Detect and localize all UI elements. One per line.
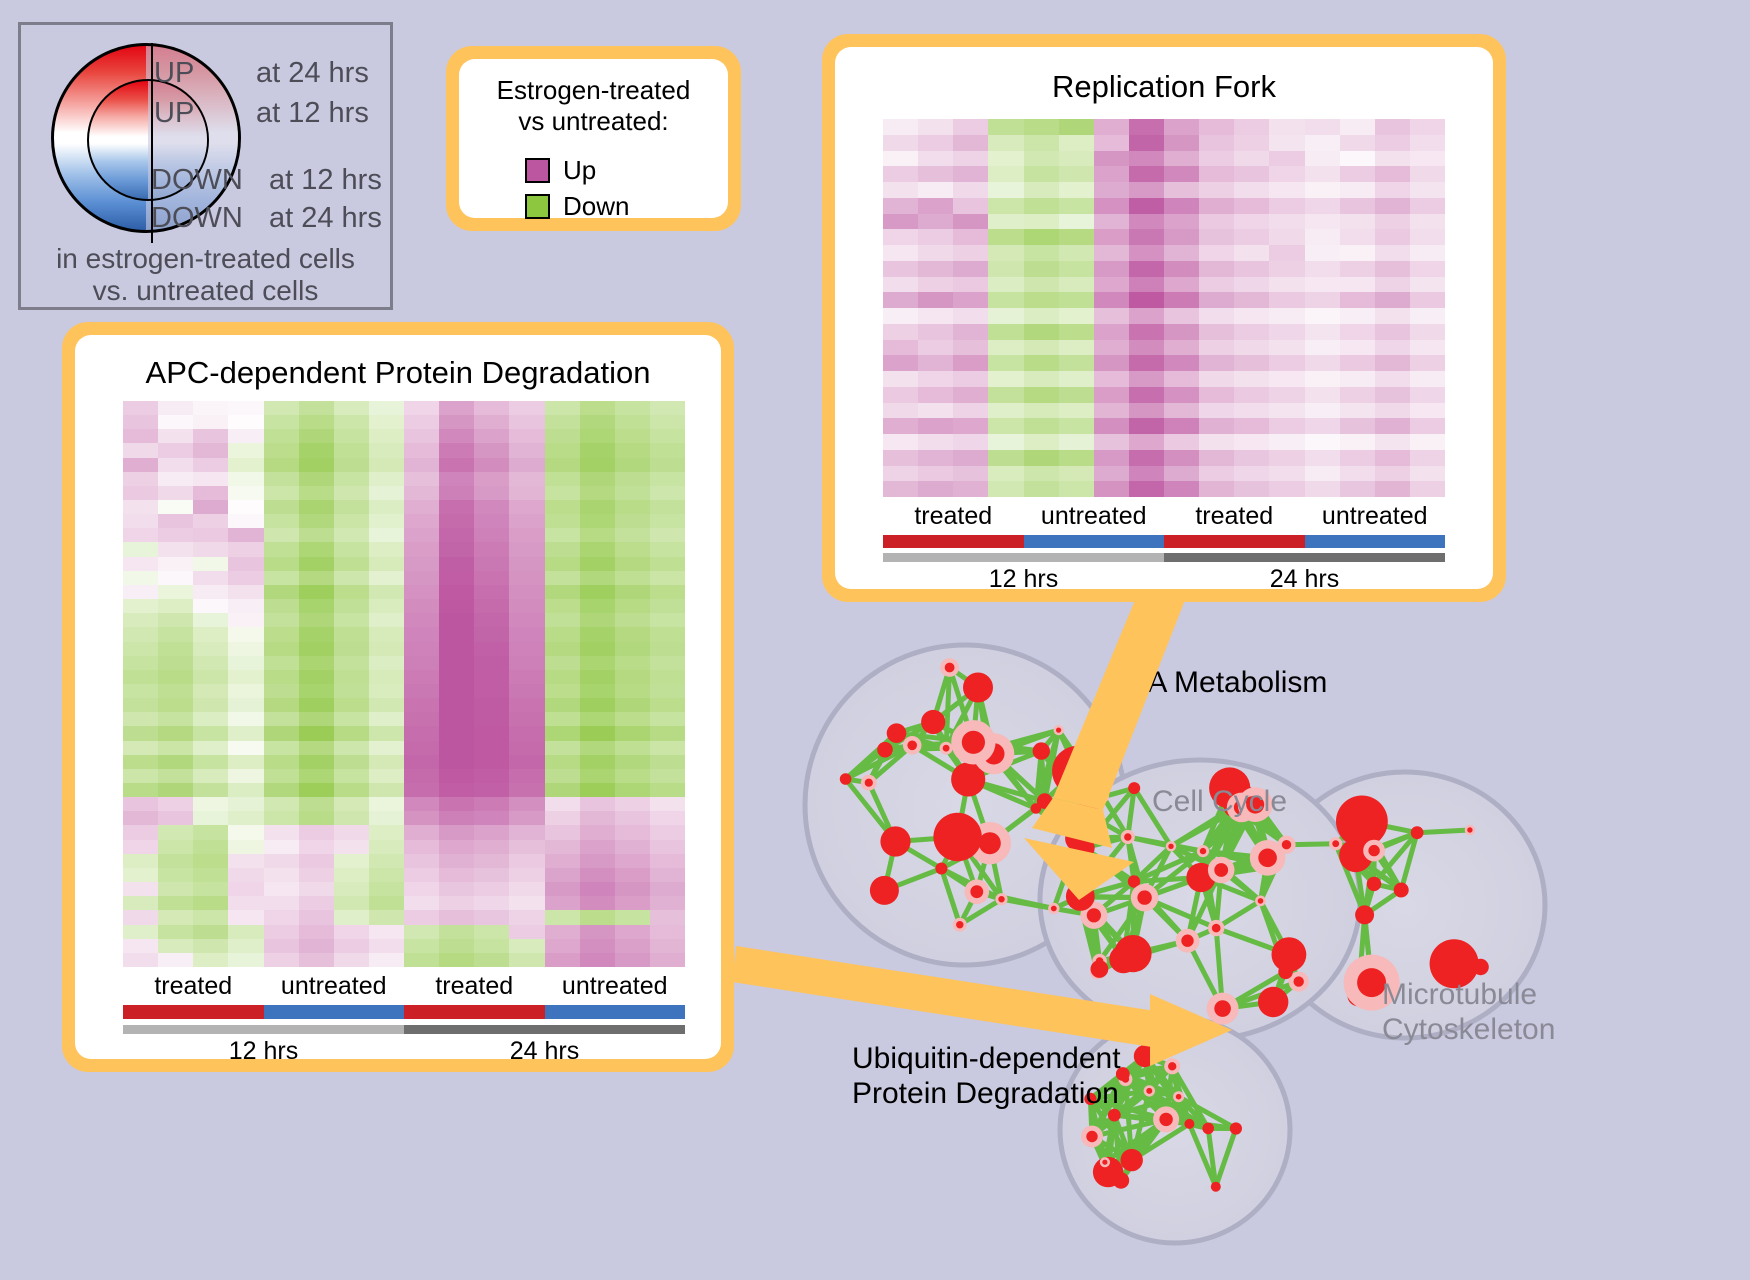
network-node[interactable] (1164, 1058, 1180, 1074)
network-node[interactable] (1176, 929, 1200, 953)
network-node[interactable] (903, 736, 922, 755)
heatmap-cell (1094, 151, 1129, 167)
network-node[interactable] (1074, 837, 1095, 858)
heatmap-cell (299, 401, 334, 415)
network-graph (780, 610, 1570, 1280)
network-node[interactable] (1207, 993, 1239, 1025)
heatmap-cell (123, 401, 158, 415)
heatmap-cell (474, 500, 509, 514)
network-node[interactable] (1068, 887, 1089, 908)
node-core (1168, 1062, 1176, 1070)
network-node[interactable] (1128, 782, 1140, 794)
heatmap-cell (1375, 135, 1410, 151)
heatmap-cell (158, 627, 193, 641)
heatmap-cell (615, 642, 650, 656)
heatmap-cell (1024, 340, 1059, 356)
heatmap-cell (509, 514, 544, 528)
heatmap-cell (1164, 245, 1199, 261)
heatmap-cell (1305, 261, 1340, 277)
ubiquitin-line1: Ubiquitin-dependent (852, 1042, 1121, 1075)
heatmap-cell (1094, 198, 1129, 214)
network-node[interactable] (1109, 945, 1137, 973)
heatmap-cell (1059, 450, 1094, 466)
heatmap-cell (953, 387, 988, 403)
heatmap-cell (123, 458, 158, 472)
heatmap-cell (1375, 418, 1410, 434)
heatmap-cell (123, 514, 158, 528)
network-node[interactable] (1255, 896, 1266, 907)
heatmap-cell (650, 712, 685, 726)
network-node[interactable] (1329, 837, 1342, 850)
heatmap-cell (988, 355, 1023, 371)
heatmap-cell (1059, 434, 1094, 450)
heatmap-cell (1129, 198, 1164, 214)
heatmap-cell (1059, 198, 1094, 214)
heatmap-cell (1094, 214, 1129, 230)
heatmap-cell (123, 910, 158, 924)
heatmap-cell (545, 486, 580, 500)
heatmap-cell (1129, 151, 1164, 167)
network-node[interactable] (1166, 841, 1176, 851)
node-core (998, 896, 1004, 902)
heatmap-cell (474, 415, 509, 429)
network-node[interactable] (953, 918, 967, 932)
network-node[interactable] (1472, 959, 1488, 975)
node-core (1121, 1149, 1143, 1171)
heatmap-cell (334, 910, 369, 924)
heatmap-cell (988, 166, 1023, 182)
heatmap-cell (545, 896, 580, 910)
heatmap-cell (918, 214, 953, 230)
network-node[interactable] (1173, 1091, 1184, 1102)
heatmap-cell (123, 642, 158, 656)
heatmap-cell (650, 840, 685, 854)
heatmap-cell (580, 613, 615, 627)
node-core (1128, 782, 1140, 794)
group-color-segment (883, 535, 1024, 548)
heatmap-cell (883, 308, 918, 324)
heatmap-cell (123, 670, 158, 684)
network-node[interactable] (1054, 725, 1064, 735)
ring-time-down-24: at 24 hrs (269, 202, 382, 235)
heatmap-cell (953, 261, 988, 277)
heatmap-cell (1234, 308, 1269, 324)
network-node[interactable] (1091, 960, 1109, 978)
heatmap-cell (545, 953, 580, 967)
heatmap-cell (509, 811, 544, 825)
network-node[interactable] (1052, 746, 1102, 796)
heatmap-cell (474, 528, 509, 542)
heatmap-cell (1164, 119, 1199, 135)
heatmap-cell (123, 500, 158, 514)
network-node[interactable] (995, 893, 1007, 905)
network-node[interactable] (1250, 840, 1286, 876)
heatmap-cell (883, 277, 918, 293)
heatmap-cell (650, 613, 685, 627)
heatmap-cell (1164, 277, 1199, 293)
heatmap-cell (264, 910, 299, 924)
heatmap-cell (953, 277, 988, 293)
heatmap-cell (545, 514, 580, 528)
heatmap-cell (1199, 308, 1234, 324)
heatmap-cell (580, 698, 615, 712)
heatmap-cell (158, 500, 193, 514)
heatmap-cell (1234, 355, 1269, 371)
heatmap-cell (404, 514, 439, 528)
heatmap-cell (299, 670, 334, 684)
heatmap-cell (193, 528, 228, 542)
heatmap-cell (545, 613, 580, 627)
heatmap-cell (580, 910, 615, 924)
node-core (840, 773, 852, 785)
heatmap-cell (988, 418, 1023, 434)
heatmap-cell (439, 825, 474, 839)
network-node[interactable] (951, 720, 995, 764)
network-node[interactable] (1031, 803, 1042, 814)
color-legend-title-line1: Estrogen-treated (497, 75, 691, 105)
cluster-label-cell-cycle: Cell Cycle (1152, 785, 1287, 820)
heatmap-cell (545, 684, 580, 698)
heatmap-cell (509, 882, 544, 896)
node-core (1134, 1045, 1156, 1067)
heatmap-cell (404, 741, 439, 755)
heatmap-cell (1024, 198, 1059, 214)
heatmap-cell (1305, 434, 1340, 450)
heatmap-cell (1199, 166, 1234, 182)
heatmap-cell (1234, 151, 1269, 167)
heatmap-cell (228, 599, 263, 613)
heatmap-cell (1305, 355, 1340, 371)
node-core (1294, 976, 1304, 986)
heatmap-cell (988, 450, 1023, 466)
heatmap-cell (918, 481, 953, 497)
heatmap-cell (264, 500, 299, 514)
heatmap-cell (228, 684, 263, 698)
heatmap-cell (1410, 466, 1445, 482)
heatmap-cell (369, 939, 404, 953)
heatmap-cell (1305, 135, 1340, 151)
heatmap-cell (404, 500, 439, 514)
heatmap-cell (299, 868, 334, 882)
network-node[interactable] (1131, 884, 1159, 912)
heatmap-cell (1234, 261, 1269, 277)
heatmap-cell (299, 557, 334, 571)
heatmap-cell (123, 585, 158, 599)
time-color-bar-replication-fork (883, 553, 1445, 562)
heatmap-cell (264, 486, 299, 500)
heatmap-cell (369, 896, 404, 910)
heatmap-cell (404, 684, 439, 698)
heatmap-cell (264, 811, 299, 825)
heatmap-cell (439, 514, 474, 528)
node-core (979, 832, 1001, 854)
heatmap-cell (123, 557, 158, 571)
heatmap-cell (299, 528, 334, 542)
heatmap-cell (1234, 324, 1269, 340)
heatmap-cell (1234, 434, 1269, 450)
heatmap-cell (193, 953, 228, 967)
node-core (1472, 959, 1488, 975)
heatmap-cell (1129, 418, 1164, 434)
network-node[interactable] (1184, 1119, 1194, 1129)
heatmap-cell (1375, 292, 1410, 308)
heatmap-cell (123, 755, 158, 769)
heatmap-cell (404, 925, 439, 939)
heatmap-cell (615, 401, 650, 415)
heatmap-cell (1059, 214, 1094, 230)
network-node[interactable] (1230, 1122, 1242, 1134)
heatmap-cell (545, 882, 580, 896)
network-node[interactable] (1033, 742, 1050, 759)
heatmap-cell (1269, 198, 1304, 214)
heatmap-cell (439, 627, 474, 641)
heatmap-cell (650, 755, 685, 769)
network-node[interactable] (1258, 987, 1288, 1017)
heatmap-cell (474, 472, 509, 486)
heatmap-cell (123, 571, 158, 585)
heatmap-cell (545, 585, 580, 599)
network-node[interactable] (1355, 905, 1374, 924)
heatmap-cell (953, 292, 988, 308)
group-label: treated (883, 502, 1024, 534)
heatmap-cell (404, 953, 439, 967)
heatmap-cell (883, 214, 918, 230)
heatmap-cell (650, 656, 685, 670)
heatmap-cell (615, 698, 650, 712)
heatmap-cell (509, 783, 544, 797)
network-node[interactable] (1278, 965, 1293, 980)
network-node[interactable] (963, 673, 993, 703)
heatmap-cell (1305, 450, 1340, 466)
heatmap-cell (1375, 229, 1410, 245)
heatmap-cell (988, 371, 1023, 387)
heatmap-cell (1129, 387, 1164, 403)
node-core (1091, 960, 1109, 978)
heatmap-cell (1269, 229, 1304, 245)
network-node[interactable] (1153, 1106, 1179, 1132)
heatmap-cell (369, 528, 404, 542)
heatmap-cell (918, 292, 953, 308)
heatmap-cell (1410, 198, 1445, 214)
heatmap-cell (918, 340, 953, 356)
network-node[interactable] (1097, 791, 1109, 803)
network-node[interactable] (1208, 857, 1235, 884)
heatmap-cell (918, 450, 953, 466)
heatmap-cell (1164, 371, 1199, 387)
heatmap-cell (545, 528, 580, 542)
time-label: 12 hrs (883, 565, 1164, 597)
heatmap-cell (883, 418, 918, 434)
node-core (1282, 840, 1291, 849)
network-node[interactable] (1197, 845, 1209, 857)
network-node[interactable] (1081, 1126, 1103, 1148)
heatmap-cell (1199, 371, 1234, 387)
heatmap-cell (650, 741, 685, 755)
heatmap-cell (1059, 403, 1094, 419)
heatmap-cell (369, 769, 404, 783)
heatmap-cell (1269, 340, 1304, 356)
heatmap-cell (918, 229, 953, 245)
heatmap-cell (439, 684, 474, 698)
network-node[interactable] (1144, 1085, 1155, 1096)
heatmap-cell (299, 627, 334, 641)
network-node[interactable] (1367, 877, 1381, 891)
heatmap-cell (1410, 261, 1445, 277)
heatmap-cell (1199, 151, 1234, 167)
heatmap-cell (883, 450, 918, 466)
heatmap-cell (953, 214, 988, 230)
heatmap-cell (615, 882, 650, 896)
heatmap-cell (1129, 340, 1164, 356)
network-node[interactable] (965, 879, 990, 904)
heatmap-cell (1375, 277, 1410, 293)
heatmap-cell (615, 443, 650, 457)
heatmap-cell (123, 726, 158, 740)
group-color-segment (1164, 535, 1305, 548)
heatmap-cell (545, 698, 580, 712)
network-node[interactable] (1363, 840, 1385, 862)
heatmap-cell (1410, 119, 1445, 135)
node-core (887, 723, 907, 743)
heatmap-cell (650, 401, 685, 415)
network-node[interactable] (1336, 796, 1388, 848)
network-node[interactable] (861, 775, 877, 791)
heatmap-cell (404, 811, 439, 825)
network-node[interactable] (877, 742, 893, 758)
heatmap-cell (545, 939, 580, 953)
network-node[interactable] (1465, 825, 1475, 835)
heatmap-cell (439, 726, 474, 740)
network-node[interactable] (1134, 1045, 1156, 1067)
heatmap-cell (988, 403, 1023, 419)
heatmap-cell (158, 910, 193, 924)
heatmap-cell (650, 627, 685, 641)
heatmap-cell (369, 557, 404, 571)
network-node[interactable] (870, 876, 899, 905)
heatmap-cell (1094, 403, 1129, 419)
heatmap-cell (918, 261, 953, 277)
network-node[interactable] (1211, 1182, 1221, 1192)
heatmap-cell (334, 627, 369, 641)
heatmap-cell (264, 656, 299, 670)
heatmap-cell (615, 429, 650, 443)
network-node[interactable] (921, 710, 945, 734)
heatmap-cell (953, 166, 988, 182)
heatmap-cell (193, 656, 228, 670)
heatmap-cell (1340, 418, 1375, 434)
heatmap-cell (474, 755, 509, 769)
heatmap-cell (158, 528, 193, 542)
heatmap-cell (404, 825, 439, 839)
heatmap-cell (953, 340, 988, 356)
network-node[interactable] (887, 723, 907, 743)
network-node[interactable] (1121, 1149, 1143, 1171)
heatmap-cell (439, 415, 474, 429)
heatmap-cell (545, 542, 580, 556)
heatmap-cell (509, 726, 544, 740)
network-node[interactable] (1100, 1157, 1110, 1167)
heatmap-cell (1305, 245, 1340, 261)
heatmap-cell (404, 599, 439, 613)
heatmap-cell (650, 458, 685, 472)
heatmap-cell (1059, 166, 1094, 182)
heatmap-cell (1094, 166, 1129, 182)
heatmap-cell (580, 542, 615, 556)
heatmap-cell (123, 953, 158, 967)
network-node[interactable] (933, 813, 981, 861)
heatmap-cell (545, 670, 580, 684)
node-core (1052, 746, 1102, 796)
heatmap-cell (580, 783, 615, 797)
network-node[interactable] (840, 773, 852, 785)
heatmap-cell (953, 434, 988, 450)
network-node[interactable] (1202, 1123, 1214, 1135)
heatmap-cell (545, 741, 580, 755)
heatmap-cell (580, 585, 615, 599)
network-node[interactable] (1411, 826, 1424, 839)
heatmap-cell (439, 656, 474, 670)
heatmap-cell (650, 868, 685, 882)
heatmap-cell (474, 585, 509, 599)
heatmap-cell (369, 514, 404, 528)
heatmap-cell (1375, 340, 1410, 356)
heatmap-cell (615, 500, 650, 514)
heatmap-cell (123, 443, 158, 457)
group-color-segment (123, 1005, 264, 1019)
network-node[interactable] (1048, 903, 1059, 914)
heatmap-cell (334, 825, 369, 839)
cluster-label-microtubule: Microtubule Cytoskeleton (1382, 978, 1555, 1048)
cluster-label-dna-metabolism: DNA Metabolism (1104, 666, 1327, 701)
heatmap-cell (918, 387, 953, 403)
node-core (880, 826, 910, 856)
heatmap-cell (193, 726, 228, 740)
heatmap-cell (988, 481, 1023, 497)
network-node[interactable] (935, 863, 947, 875)
heatmap-cell (123, 811, 158, 825)
network-node[interactable] (1394, 883, 1409, 898)
heatmap-cell (1305, 198, 1340, 214)
network-node[interactable] (880, 826, 910, 856)
heatmap-cell (1164, 292, 1199, 308)
network-node[interactable] (1121, 830, 1135, 844)
network-node[interactable] (940, 658, 959, 677)
heatmap-cell (299, 472, 334, 486)
heatmap-cell (334, 684, 369, 698)
heatmap-cell (439, 741, 474, 755)
heatmap-cell (509, 458, 544, 472)
node-core (1159, 1113, 1172, 1126)
heatmap-cell (1305, 403, 1340, 419)
heatmap-cell (1234, 198, 1269, 214)
heatmap-cell (1059, 292, 1094, 308)
heatmap-cell (883, 119, 918, 135)
heatmap-cell (1305, 166, 1340, 182)
network-node[interactable] (940, 742, 953, 755)
network-node[interactable] (1208, 920, 1224, 936)
heatmap-cell (123, 783, 158, 797)
network-node[interactable] (1074, 801, 1099, 826)
heatmap-cell (1199, 418, 1234, 434)
heatmap-cell (193, 599, 228, 613)
heatmap-cell (334, 642, 369, 656)
heatmap-cell (953, 450, 988, 466)
heatmap-cell (580, 557, 615, 571)
node-core (877, 742, 893, 758)
heatmap-cell (545, 712, 580, 726)
heatmap-cell (1094, 292, 1129, 308)
heatmap-cell (264, 840, 299, 854)
